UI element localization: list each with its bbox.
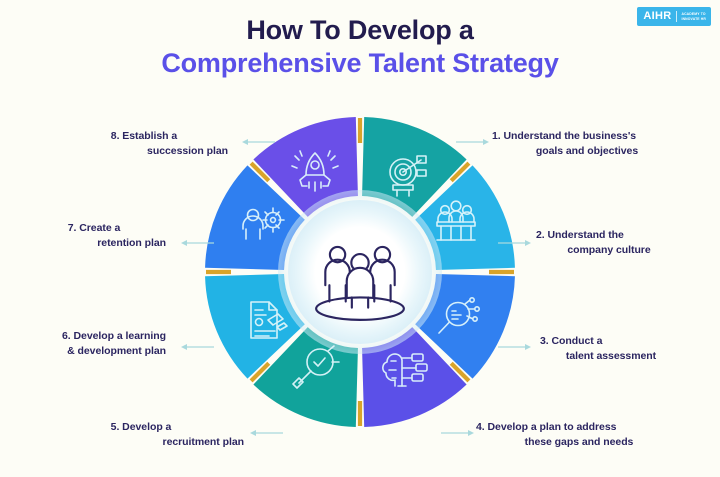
infographic-canvas: AIHR ACADEMY TO INNOVATE HR How To Devel…: [0, 0, 720, 477]
step-label-6[interactable]: 6. Develop a learning & development plan: [14, 329, 166, 358]
step-label-5[interactable]: 5. Develop a recruitment plan: [38, 420, 244, 449]
step-4-line-1: 4. Develop a plan to address: [476, 420, 682, 435]
connector-3: [497, 343, 533, 351]
page-title: How To Develop a Comprehensive Talent St…: [0, 14, 720, 80]
step-label-1[interactable]: 1. Understand the business's goals and o…: [492, 129, 682, 158]
step-1-line-1: 1. Understand the business's: [492, 129, 682, 144]
step-3-line-1: 3. Conduct a: [540, 334, 682, 349]
step-label-2[interactable]: 2. Understand the company culture: [536, 228, 682, 257]
step-label-3[interactable]: 3. Conduct a talent assessment: [540, 334, 682, 363]
step-2-line-2: company culture: [536, 243, 682, 258]
step-3-line-2: talent assessment: [540, 349, 682, 364]
step-8-line-1: 8. Establish a: [60, 129, 228, 144]
title-line-2: Comprehensive Talent Strategy: [0, 46, 720, 80]
step-7-line-2: retention plan: [22, 236, 166, 251]
connector-1: [455, 138, 491, 146]
connector-4: [440, 429, 476, 437]
step-1-line-2: goals and objectives: [492, 144, 682, 159]
connector-7: [179, 239, 215, 247]
step-5-line-1: 5. Develop a: [38, 420, 244, 435]
connector-6: [179, 343, 215, 351]
connector-5: [248, 429, 284, 437]
talent-strategy-wheel: [200, 112, 520, 432]
wheel-svg: [200, 112, 520, 432]
step-label-4[interactable]: 4. Develop a plan to address these gaps …: [476, 420, 682, 449]
step-7-line-1: 7. Create a: [22, 221, 166, 236]
step-4-line-2: these gaps and needs: [476, 435, 682, 450]
step-label-8[interactable]: 8. Establish a succession plan: [60, 129, 228, 158]
step-5-line-2: recruitment plan: [38, 435, 244, 450]
title-line-1: How To Develop a: [0, 14, 720, 46]
step-label-7[interactable]: 7. Create a retention plan: [22, 221, 166, 250]
step-2-line-1: 2. Understand the: [536, 228, 682, 243]
connector-8: [240, 138, 276, 146]
connector-2: [497, 239, 533, 247]
step-8-line-2: succession plan: [60, 144, 228, 159]
step-6-line-1: 6. Develop a learning: [14, 329, 166, 344]
step-6-line-2: & development plan: [14, 344, 166, 359]
